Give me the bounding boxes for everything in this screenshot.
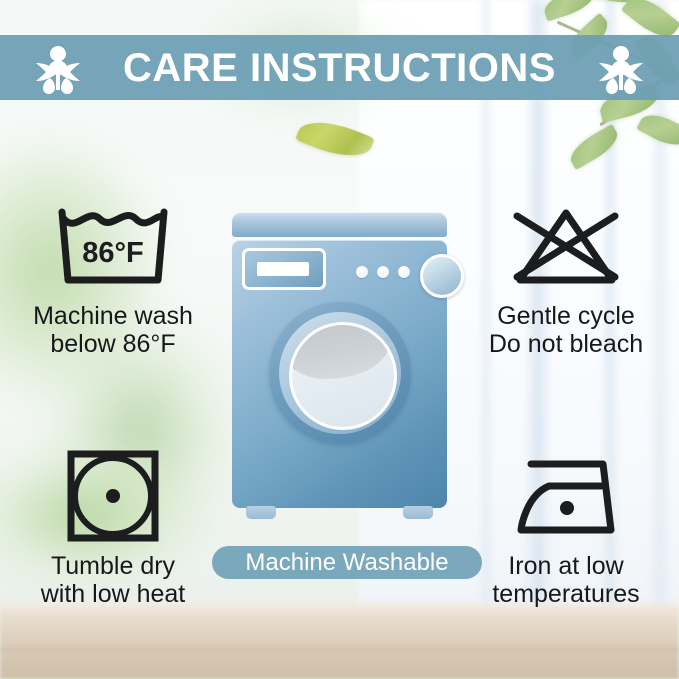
page-title: CARE INSTRUCTIONS — [123, 48, 556, 88]
instruction-caption: Machine wash below 86°F — [8, 302, 218, 358]
porthole-door-middle-ring — [279, 312, 401, 434]
machine-body — [232, 240, 447, 508]
caption-line-2: below 86°F — [8, 330, 218, 358]
wooden-table-surface — [0, 607, 679, 679]
control-dial — [420, 254, 464, 298]
instruction-do-not-bleach: Gentle cycle Do not bleach — [461, 196, 671, 358]
leaf-8 — [565, 124, 623, 170]
instruction-caption: Iron at low temperatures — [461, 552, 671, 608]
porthole-door-outer-ring — [269, 302, 411, 444]
care-instructions-infographic: CARE INSTRUCTIONS 86°F Machine wash belo… — [0, 0, 679, 679]
tumble-dry-low-heat-icon — [63, 446, 163, 546]
detergent-drawer — [242, 248, 326, 290]
icon-slot — [461, 196, 671, 296]
caption-line-1: Tumble dry — [8, 552, 218, 580]
machine-top-lid — [232, 212, 447, 237]
instruction-machine-wash: 86°F Machine wash below 86°F — [8, 196, 218, 358]
caption-line-2: temperatures — [461, 580, 671, 608]
control-button-1 — [356, 266, 368, 278]
icon-slot — [8, 446, 218, 546]
porthole-door-glass — [289, 322, 397, 430]
wash-tub-icon: 86°F — [52, 200, 174, 292]
fleur-de-lis-icon-left — [22, 42, 94, 94]
machine-foot-right — [403, 506, 433, 519]
machine-washable-badge: Machine Washable — [212, 546, 482, 579]
control-button-2 — [377, 266, 389, 278]
instruction-tumble-dry: Tumble dry with low heat — [8, 446, 218, 608]
machine-foot-left — [246, 506, 276, 519]
table-plank-line — [0, 648, 679, 651]
instruction-iron-low: Iron at low temperatures — [461, 446, 671, 608]
caption-line-1: Gentle cycle — [461, 302, 671, 330]
control-button-3 — [398, 266, 410, 278]
icon-slot: 86°F — [8, 196, 218, 296]
fleur-de-lis-icon-right — [585, 42, 657, 94]
icon-slot — [461, 446, 671, 546]
leaf-1 — [541, 0, 597, 21]
wash-temperature-value: 86°F — [82, 237, 144, 269]
caption-line-2: with low heat — [8, 580, 218, 608]
porthole-glass-highlight — [289, 322, 390, 379]
drawer-slot — [257, 262, 309, 276]
washing-machine-illustration — [232, 212, 447, 524]
iron-low-temperature-icon — [505, 450, 627, 542]
instruction-caption: Gentle cycle Do not bleach — [461, 302, 671, 358]
leaf-7 — [636, 108, 679, 153]
instruction-caption: Tumble dry with low heat — [8, 552, 218, 608]
triangle-crossed-no-bleach-icon — [505, 200, 627, 292]
badge-label: Machine Washable — [245, 551, 448, 575]
caption-line-1: Iron at low — [461, 552, 671, 580]
caption-line-2: Do not bleach — [461, 330, 671, 358]
caption-line-1: Machine wash — [8, 302, 218, 330]
header-banner: CARE INSTRUCTIONS — [0, 35, 679, 100]
